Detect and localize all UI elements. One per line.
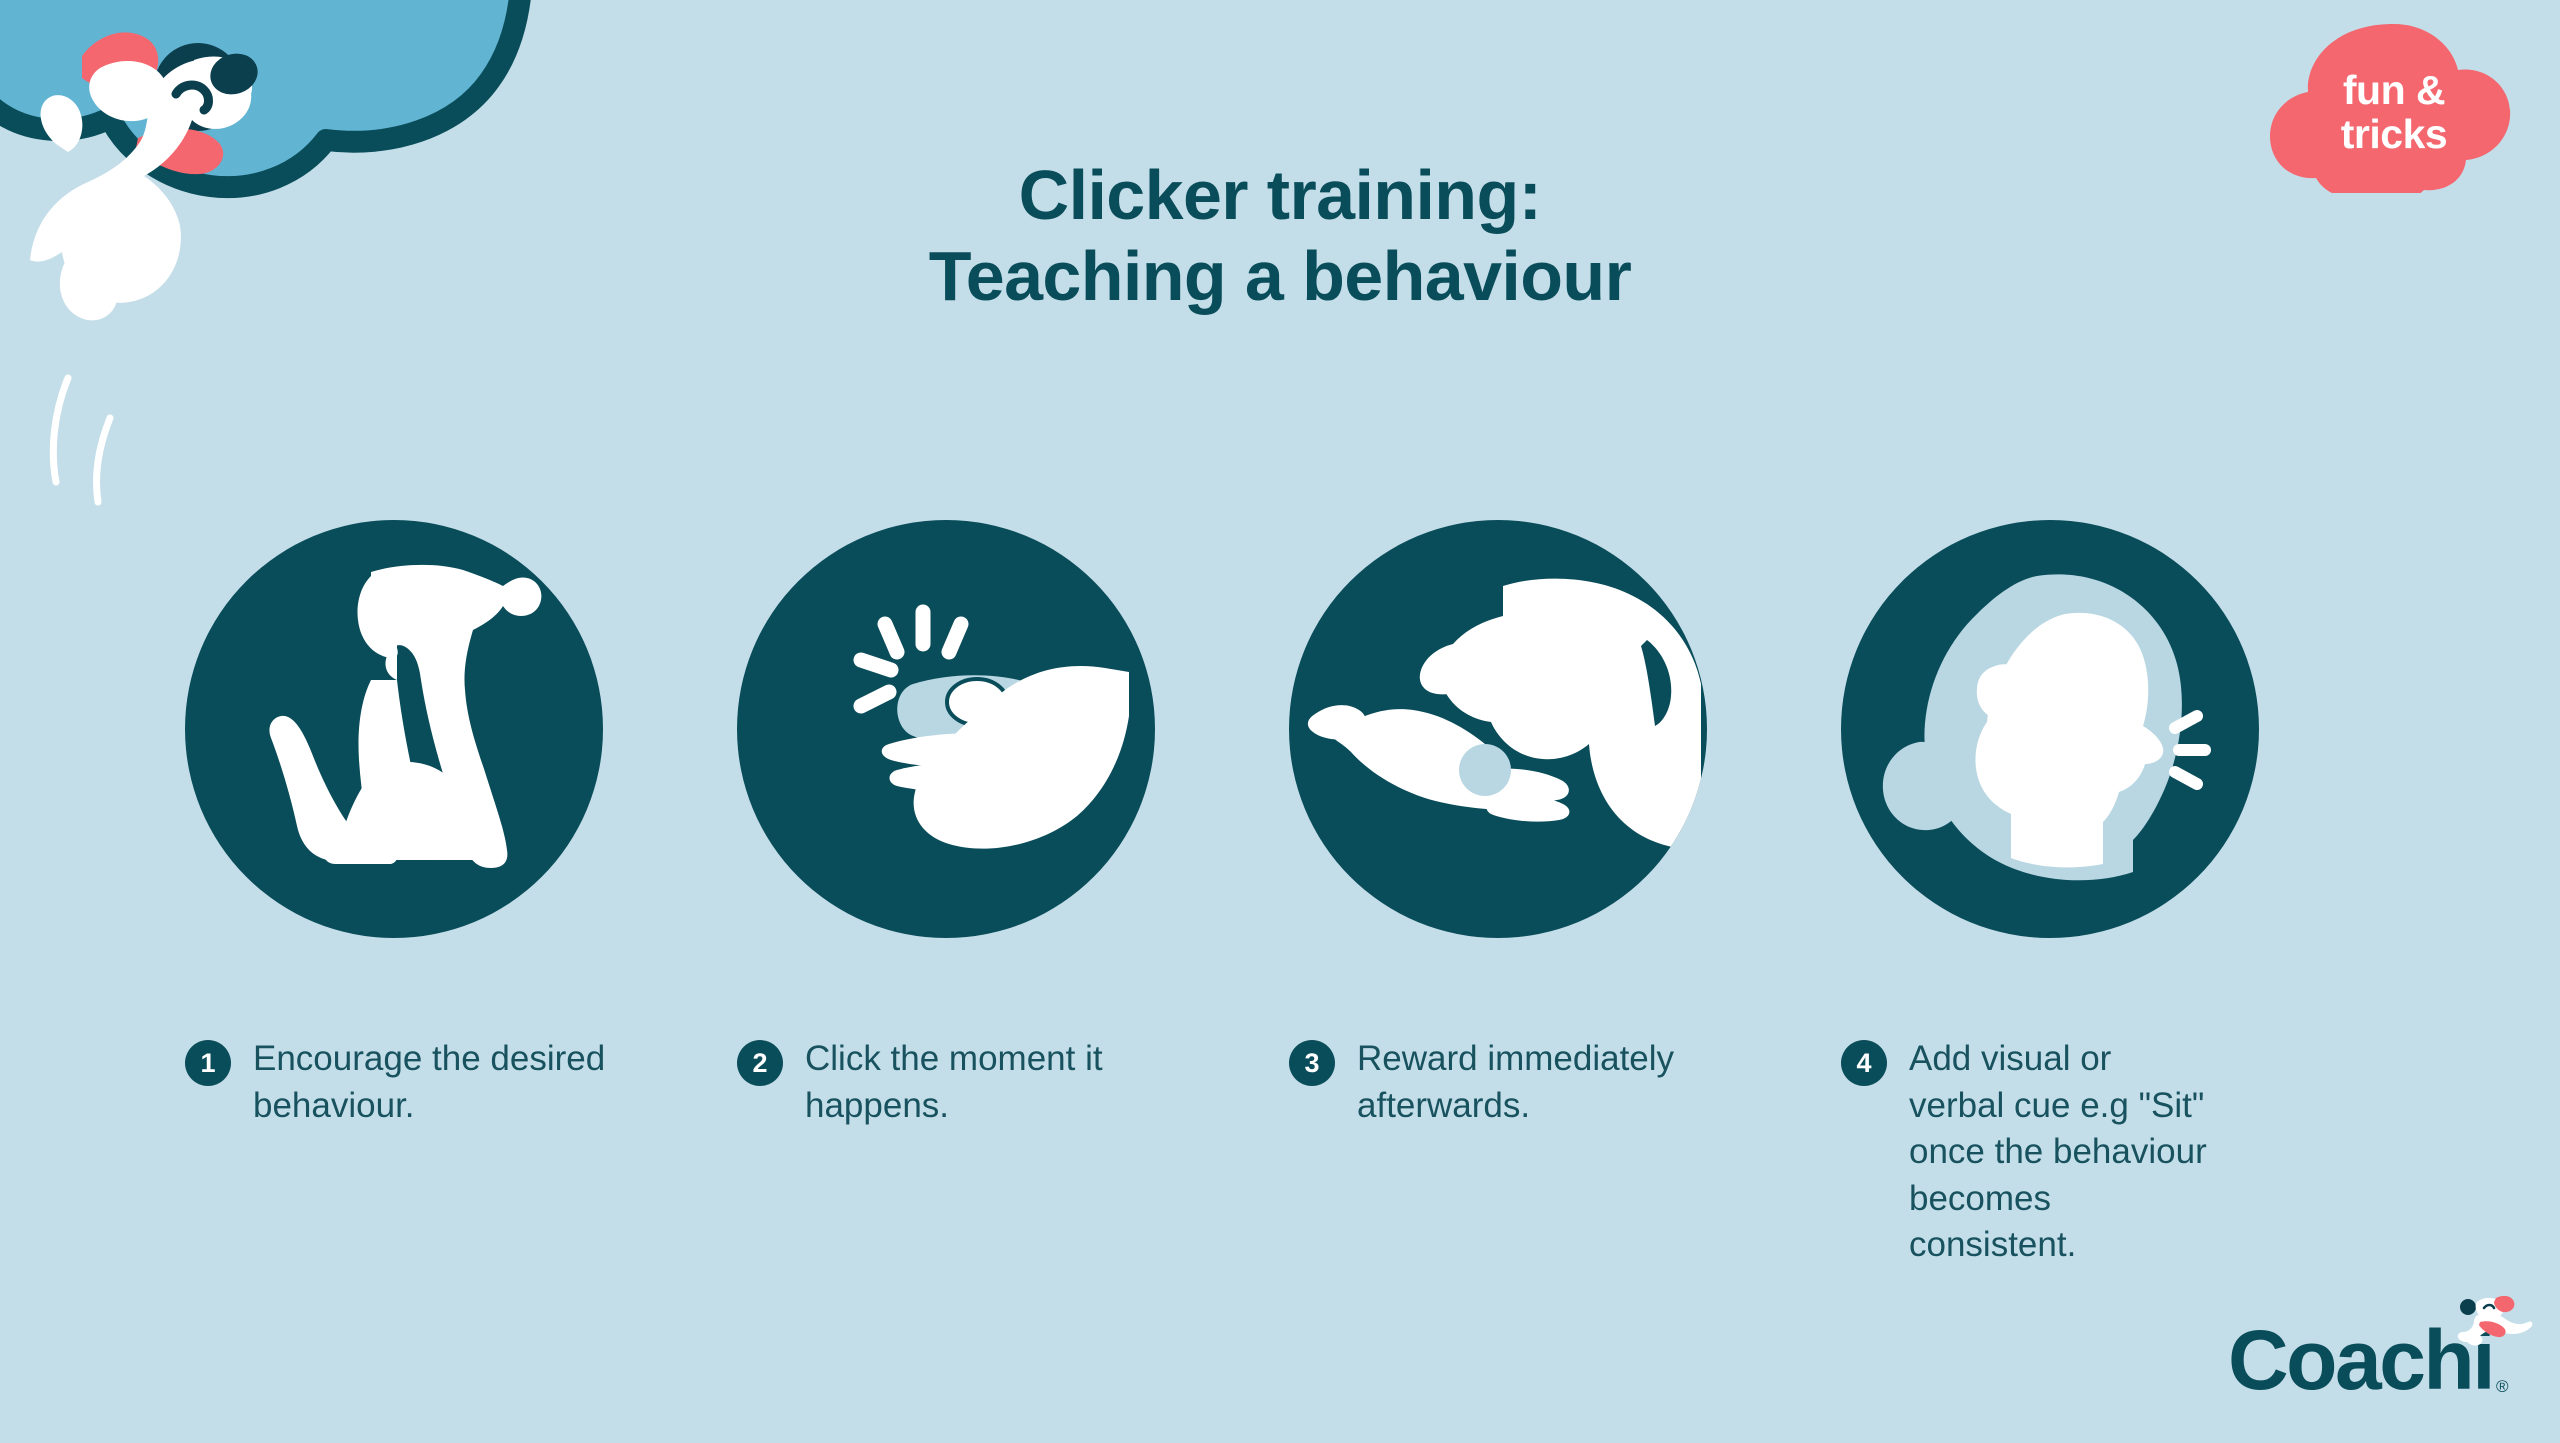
step-4-text: Add visual or verbal cue e.g "Sit" once … xyxy=(1909,1036,2209,1269)
step-4-icon-circle xyxy=(1841,520,2259,938)
step-2-number: 2 xyxy=(737,1040,783,1086)
step-1-caption: 1 Encourage the desired behaviour. xyxy=(185,1036,737,1129)
coachi-logo: Coachi ® xyxy=(2228,1296,2528,1416)
sitting-dog-icon xyxy=(185,520,603,938)
step-3-text: Reward immediately afterwards. xyxy=(1357,1036,1747,1129)
step-3-icon-circle xyxy=(1289,520,1707,938)
leaping-dog-icon xyxy=(2450,1290,2536,1360)
step-2-icon-circle xyxy=(737,520,1155,938)
title-line-2: Teaching a behaviour xyxy=(0,236,2560,317)
badge-line-1: fun & xyxy=(2343,69,2445,112)
step-4: 4 Add visual or verbal cue e.g "Sit" onc… xyxy=(1841,520,2393,1269)
step-3-number: 3 xyxy=(1289,1040,1335,1086)
title-line-1: Clicker training: xyxy=(1019,156,1542,234)
step-2-text: Click the moment it happens. xyxy=(805,1036,1195,1129)
registered-mark: ® xyxy=(2496,1378,2509,1395)
badge-line-2: tricks xyxy=(2341,113,2447,156)
step-2: 2 Click the moment it happens. xyxy=(737,520,1289,1269)
step-4-number: 4 xyxy=(1841,1040,1887,1086)
infographic-page: fun & tricks Clicker training: Teaching … xyxy=(0,0,2560,1443)
person-speaking-profile-icon xyxy=(1841,520,2259,938)
speech-lines xyxy=(2175,716,2205,784)
step-1-text: Encourage the desired behaviour. xyxy=(253,1036,643,1129)
page-title: Clicker training: Teaching a behaviour xyxy=(0,155,2560,317)
step-1-icon-circle xyxy=(185,520,603,938)
step-1-number: 1 xyxy=(185,1040,231,1086)
step-3-caption: 3 Reward immediately afterwards. xyxy=(1289,1036,1841,1129)
hand-holding-clicker-icon xyxy=(737,520,1155,938)
steps-row: 1 Encourage the desired behaviour. xyxy=(185,520,2395,1269)
step-3: 3 Reward immediately afterwards. xyxy=(1289,520,1841,1269)
step-2-caption: 2 Click the moment it happens. xyxy=(737,1036,1289,1129)
motion-lines xyxy=(53,378,110,502)
step-1: 1 Encourage the desired behaviour. xyxy=(185,520,737,1269)
step-4-caption: 4 Add visual or verbal cue e.g "Sit" onc… xyxy=(1841,1036,2393,1269)
treat xyxy=(1459,744,1511,796)
dog-taking-treat-from-hand-icon xyxy=(1289,520,1707,938)
